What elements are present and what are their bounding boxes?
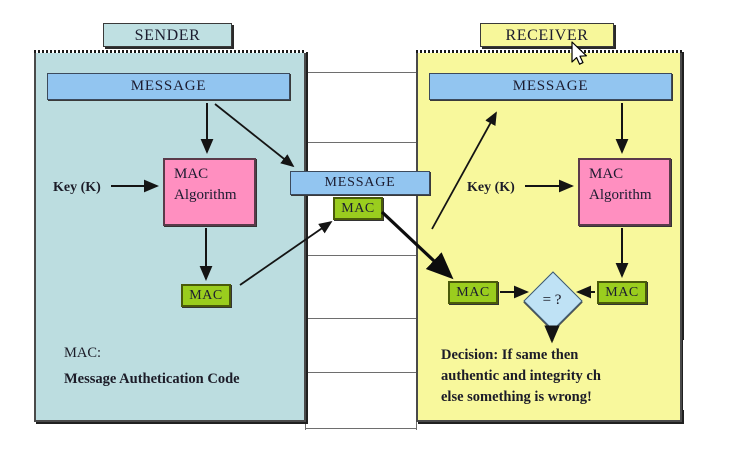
sender-mac-algorithm-box: MAC Algorithm [163, 158, 256, 226]
channel-rule-1 [305, 72, 417, 73]
receiver-message-box: MESSAGE [429, 73, 672, 100]
channel-rule-3 [305, 255, 417, 256]
channel-rule-2 [305, 142, 417, 143]
sender-message-box: MESSAGE [47, 73, 290, 100]
sender-note-line1: MAC: [64, 345, 101, 362]
receiver-text-clip-mask [683, 340, 732, 410]
sender-title-tab: SENDER [103, 23, 232, 47]
receiver-decision-line2: authentic and integrity ch [441, 366, 601, 387]
channel-message-box: MESSAGE [290, 171, 430, 195]
sender-note-line2: Message Authetication Code [64, 369, 240, 390]
sender-key-label: Key (K) [53, 180, 101, 196]
sender-mac-algorithm-line1: MAC [174, 164, 254, 185]
channel-rule-5 [305, 372, 417, 373]
receiver-title-tab: RECEIVER [480, 23, 614, 47]
receiver-mac-computed-box: MAC [597, 281, 647, 304]
sender-mac-box: MAC [181, 284, 231, 307]
receiver-compare-diamond: = ? [524, 272, 580, 328]
channel-rule-4 [305, 318, 417, 319]
receiver-key-label: Key (K) [467, 180, 515, 196]
receiver-mac-algorithm-line2: Algorithm [589, 185, 669, 206]
receiver-mac-algorithm-box: MAC Algorithm [578, 158, 671, 226]
receiver-decision-line3: else something is wrong! [441, 387, 592, 408]
channel-mac-box: MAC [333, 197, 383, 220]
diagram-canvas: SENDER MESSAGE MAC Algorithm Key (K) MAC… [0, 0, 732, 450]
sender-panel-top-hatch [34, 50, 306, 53]
sender-mac-algorithm-line2: Algorithm [174, 185, 254, 206]
receiver-mac-algorithm-line1: MAC [589, 164, 669, 185]
sender-panel [34, 50, 306, 422]
compare-label: = ? [524, 272, 580, 328]
receiver-decision-line1: Decision: If same then [441, 345, 578, 366]
receiver-mac-received-box: MAC [448, 281, 498, 304]
channel-rule-6 [305, 428, 417, 429]
receiver-panel-top-hatch [416, 50, 682, 53]
